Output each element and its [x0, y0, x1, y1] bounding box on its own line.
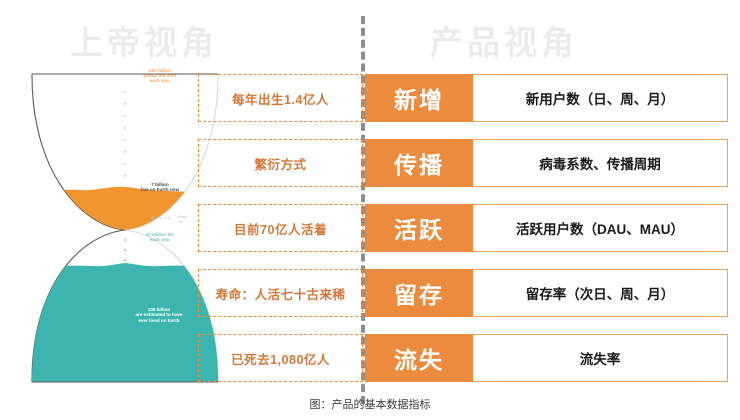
table-row: 已死去1,080亿人 流失 流失率 [0, 334, 740, 382]
note-text: 每年出生1.4亿人 [232, 89, 329, 108]
category-label: 留存 [394, 276, 444, 310]
table-row: 繁衍方式 传播 病毒系数、传播周期 [0, 139, 740, 187]
metric-cell-spread[interactable]: 病毒系数、传播周期 [473, 139, 728, 187]
metric-cell-new[interactable]: 新用户数（日、周、月） [473, 74, 728, 122]
note-box-retention: 寿命：人活七十古来稀 [198, 269, 363, 317]
note-text: 已死去1,080亿人 [231, 349, 330, 368]
category-cell-churn[interactable]: 流失 [365, 334, 473, 382]
heading-god-perspective: 上帝视角 [70, 16, 218, 64]
note-box-spread: 繁衍方式 [198, 139, 363, 187]
table-row: 寿命：人活七十古来稀 留存 留存率（次日、周、月） [0, 269, 740, 317]
note-box-active: 目前70亿人活着 [198, 204, 363, 252]
metric-cell-retention[interactable]: 留存率（次日、周、月） [473, 269, 728, 317]
figure-caption: 图：产品的基本数据指标 [0, 396, 740, 412]
metric-label: 流失率 [580, 348, 621, 368]
category-label: 活跃 [394, 211, 444, 245]
note-text: 目前70亿人活着 [234, 219, 327, 238]
metric-cell-churn[interactable]: 流失率 [473, 334, 728, 382]
metric-cell-active[interactable]: 活跃用户数（DAU、MAU） [473, 204, 728, 252]
category-label: 流失 [394, 341, 444, 375]
category-cell-new[interactable]: 新增 [365, 74, 473, 122]
category-label: 传播 [394, 146, 444, 180]
metric-label: 活跃用户数（DAU、MAU） [516, 218, 684, 238]
table-row: 目前70亿人活着 活跃 活跃用户数（DAU、MAU） [0, 204, 740, 252]
metric-label: 留存率（次日、周、月） [526, 283, 675, 303]
slide-canvas: 上帝视角 产品视角 [0, 0, 740, 420]
category-cell-retention[interactable]: 留存 [365, 269, 473, 317]
category-label: 新增 [394, 81, 444, 115]
heading-product-perspective: 产品视角 [430, 16, 578, 64]
metric-label: 新用户数（日、周、月） [526, 88, 675, 108]
metric-label: 病毒系数、传播周期 [539, 153, 661, 173]
note-box-churn: 已死去1,080亿人 [198, 334, 363, 382]
category-cell-spread[interactable]: 传播 [365, 139, 473, 187]
category-cell-active[interactable]: 活跃 [365, 204, 473, 252]
table-row: 每年出生1.4亿人 新增 新用户数（日、周、月） [0, 74, 740, 122]
note-text: 寿命：人活七十古来稀 [215, 284, 345, 303]
note-box-new: 每年出生1.4亿人 [198, 74, 363, 122]
note-text: 繁衍方式 [254, 154, 306, 173]
